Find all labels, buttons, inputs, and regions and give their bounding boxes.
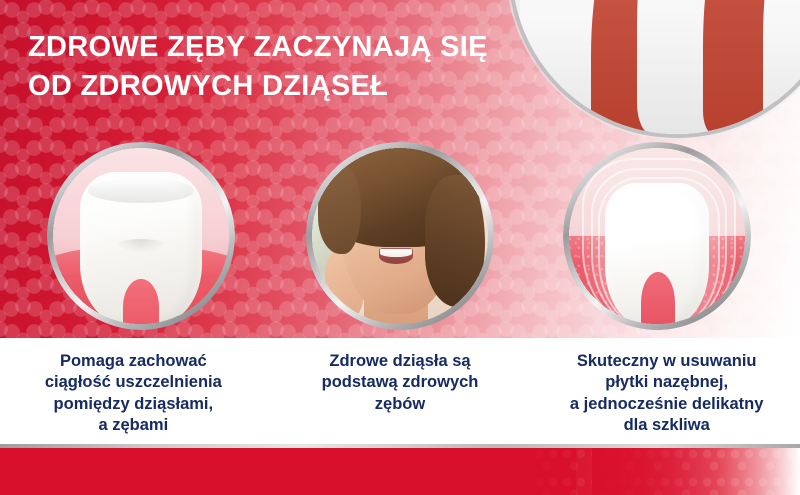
tooth-root-gum: [123, 279, 159, 325]
caption-3: Skuteczny w usuwaniu płytki nazębnej, a …: [533, 338, 800, 444]
clean-tooth-root-gum: [641, 272, 675, 325]
caption-1-line-3: pomiędzy dziąsłami,: [45, 394, 222, 415]
caption-2-line-1: Zdrowe dziąsła są: [322, 351, 479, 372]
caption-1-line-2: ciągłość uszczelnienia: [45, 372, 222, 393]
caption-1-text: Pomaga zachować ciągłość uszczelnienia p…: [45, 351, 222, 437]
caption-1: Pomaga zachować ciągłość uszczelnienia p…: [0, 338, 267, 444]
caption-3-line-1: Skuteczny w usuwaniu: [570, 351, 764, 372]
dental-health-infographic-banner: ZDROWE ZĘBY ZACZYNAJĄ SIĘ OD ZDROWYCH DZ…: [0, 0, 800, 495]
footer-bar: [0, 448, 800, 495]
feature-circle-tooth-gum-seal: [47, 142, 235, 330]
caption-3-text: Skuteczny w usuwaniu płytki nazębnej, a …: [570, 351, 764, 437]
footer-bar-fade: [592, 448, 800, 495]
feature-circle-smiling-woman: [306, 142, 494, 330]
caption-3-line-4: dla szkliwa: [570, 415, 764, 436]
caption-3-line-3: a jednocześnie delikatny: [570, 394, 764, 415]
caption-2-line-3: zębów: [322, 394, 479, 415]
woman-hair-right: [425, 175, 486, 307]
smiling-mouth: [379, 248, 413, 263]
caption-1-line-4: a zębami: [45, 415, 222, 436]
caption-2-line-2: podstawą zdrowych: [322, 372, 479, 393]
caption-2: Zdrowe dziąsła są podstawą zdrowych zębó…: [267, 338, 534, 444]
circle-3-image: [568, 147, 746, 325]
caption-1-line-1: Pomaga zachować: [45, 351, 222, 372]
visible-teeth: [380, 249, 411, 257]
feature-circle-clean-tooth: [563, 142, 751, 330]
feature-circles: [0, 0, 800, 338]
woman-hair-left: [318, 165, 361, 254]
caption-panel: Pomaga zachować ciągłość uszczelnienia p…: [0, 338, 800, 444]
caption-3-line-2: płytki nazębnej,: [570, 372, 764, 393]
tooth-shading: [114, 239, 167, 253]
circle-2-image: [311, 147, 489, 325]
circle-1-image: [52, 147, 230, 325]
caption-2-text: Zdrowe dziąsła są podstawą zdrowych zębó…: [322, 351, 479, 415]
